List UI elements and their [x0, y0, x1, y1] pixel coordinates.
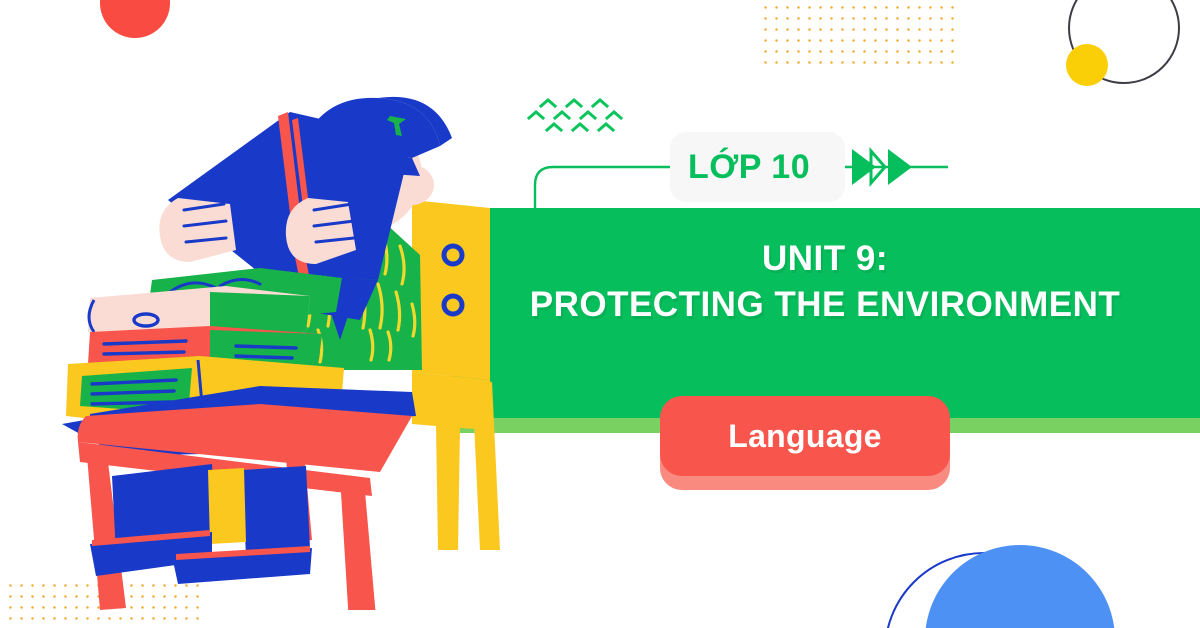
play-arrows-icon [852, 146, 914, 188]
yellow-circle-decoration [1066, 44, 1108, 86]
chevron-pattern-icon [527, 96, 637, 140]
banner-canvas: LỚP 10 UNIT 9: PROTECTING THE ENVIRONMEN… [0, 0, 1200, 628]
grade-label: LỚP 10 [688, 144, 848, 190]
unit-title-line: PROTECTING THE ENVIRONMENT [450, 282, 1200, 328]
red-circle-decoration [100, 0, 170, 38]
dot-grid-top-right [758, 0, 958, 68]
desk [62, 386, 416, 610]
unit-number-line: UNIT 9: [450, 236, 1200, 282]
student-reading-illustration [60, 80, 530, 610]
chair-shape [412, 200, 500, 550]
title-block: UNIT 9: PROTECTING THE ENVIRONMENT [450, 236, 1200, 328]
language-button-label: Language [660, 396, 950, 476]
